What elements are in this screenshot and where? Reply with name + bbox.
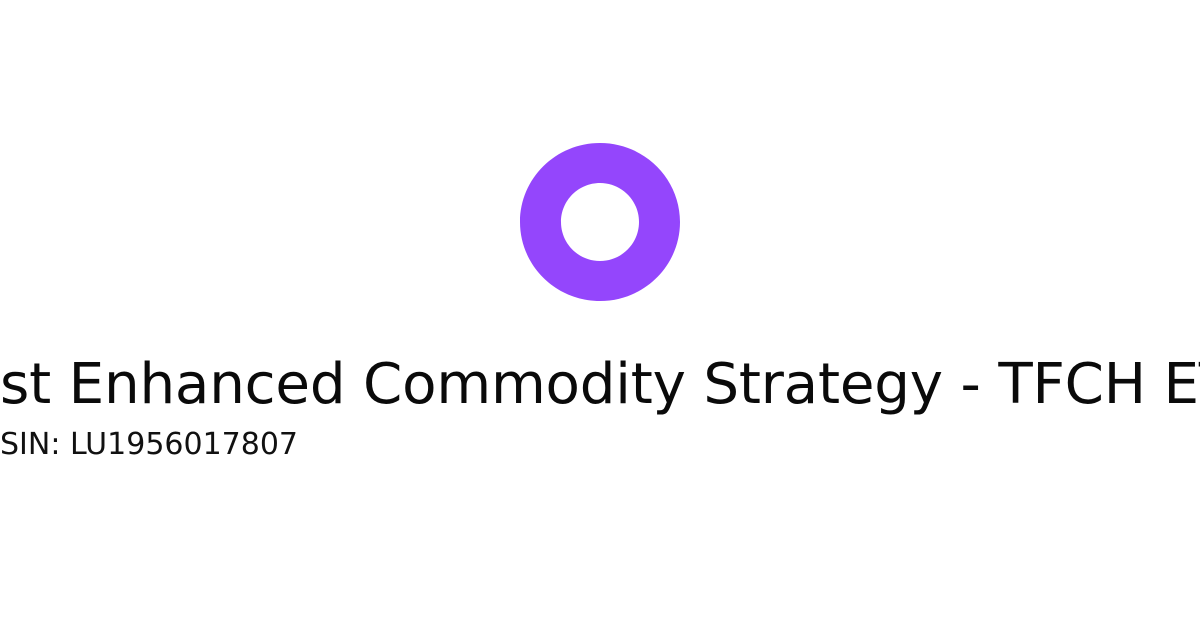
- fund-title-row: Lyxor Bloomberg Equal-weight Commodity e…: [0, 357, 1200, 413]
- page-title: Lyxor Bloomberg Equal-weight Commodity e…: [0, 357, 1200, 413]
- donut-ring-logo: [520, 143, 680, 301]
- fund-preview-card: Lyxor Bloomberg Equal-weight Commodity e…: [0, 0, 1200, 630]
- fund-isin-row: ISIN: LU1956017807: [0, 430, 1200, 460]
- isin-value: ISIN: LU1956017807: [0, 430, 298, 460]
